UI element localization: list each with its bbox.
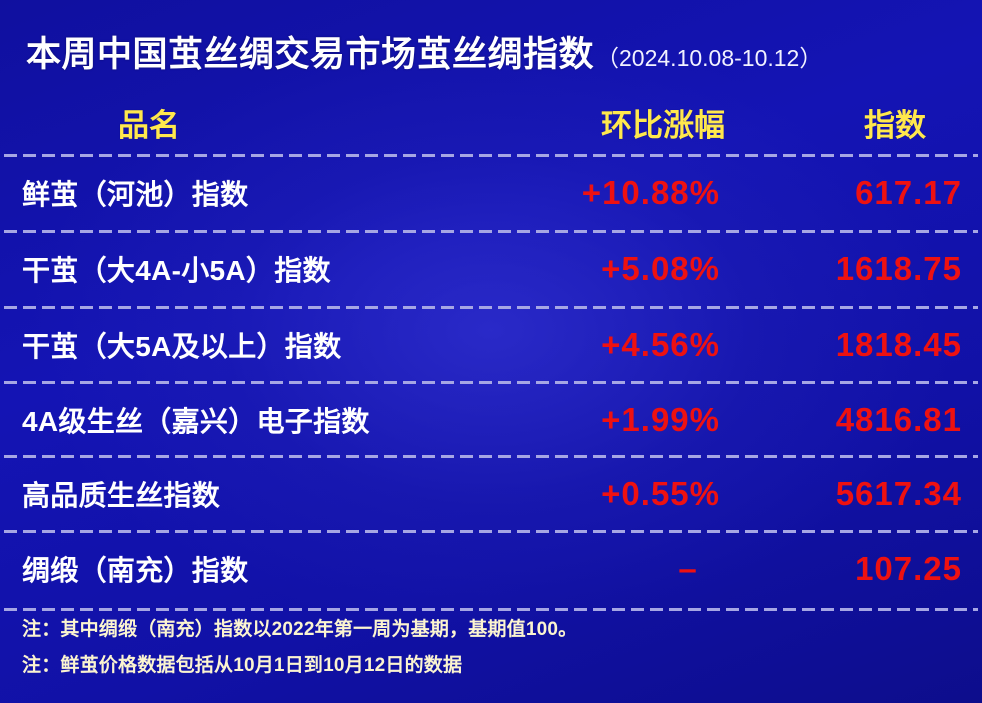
row-separator (4, 306, 978, 309)
row-name: 4A级生丝（嘉兴）电子指数 (22, 400, 370, 440)
table-row: 鲜茧（河池）指数 +10.88% 617.17 (0, 160, 982, 226)
page-title-main: 本周中国茧丝绸交易市场茧丝绸指数 (26, 26, 594, 77)
index-board: 本周中国茧丝绸交易市场茧丝绸指数 （2024.10.08-10.12） 品名 环… (0, 0, 982, 703)
row-index-value: 5617.34 (730, 475, 962, 513)
row-change-value: +5.08% (420, 250, 720, 288)
row-index-value: 1818.45 (730, 326, 962, 364)
table-header-row: 品名 环比涨幅 指数 (0, 94, 982, 150)
table-row: 干茧（大5A及以上）指数 +4.56% 1818.45 (0, 312, 982, 378)
row-change-value: +10.88% (420, 174, 720, 212)
column-header-index: 指数 (730, 100, 926, 145)
row-separator (4, 455, 978, 458)
row-index-value: 4816.81 (730, 401, 962, 439)
table-row: 高品质生丝指数 +0.55% 5617.34 (0, 461, 982, 527)
row-name: 高品质生丝指数 (22, 474, 220, 514)
page-title: 本周中国茧丝绸交易市场茧丝绸指数 （2024.10.08-10.12） (26, 26, 964, 80)
row-separator (4, 530, 978, 533)
row-name: 鲜茧（河池）指数 (22, 173, 248, 213)
column-header-name: 品名 (118, 100, 180, 145)
row-index-value: 1618.75 (730, 250, 962, 288)
row-separator (4, 381, 978, 384)
row-separator (4, 230, 978, 233)
row-index-value: 107.25 (730, 550, 962, 588)
footnote-item: 注：鲜茧价格数据包括从10月1日到10月12日的数据 (22, 656, 962, 675)
row-separator (4, 608, 978, 611)
footnotes: 注：其中绸缎（南充）指数以2022年第一周为基期，基期值100。 注：鲜茧价格数… (22, 620, 962, 675)
row-change-value: +0.55% (420, 475, 720, 513)
table-row: 4A级生丝（嘉兴）电子指数 +1.99% 4816.81 (0, 387, 982, 453)
footnote-item: 注：其中绸缎（南充）指数以2022年第一周为基期，基期值100。 (22, 620, 962, 639)
row-index-value: 617.17 (730, 174, 962, 212)
row-name: 干茧（大5A及以上）指数 (22, 325, 341, 365)
column-header-change: 环比涨幅 (420, 100, 725, 145)
table-row: 干茧（大4A-小5A）指数 +5.08% 1618.75 (0, 236, 982, 302)
row-name: 干茧（大4A-小5A）指数 (22, 249, 331, 289)
page-title-date-range: （2024.10.08-10.12） (596, 39, 822, 73)
row-name: 绸缎（南充）指数 (22, 549, 248, 589)
row-change-value: +4.56% (420, 326, 720, 364)
row-separator (4, 154, 978, 157)
table-row: 绸缎（南充）指数 – 107.25 (0, 536, 982, 602)
row-change-value: +1.99% (420, 401, 720, 439)
